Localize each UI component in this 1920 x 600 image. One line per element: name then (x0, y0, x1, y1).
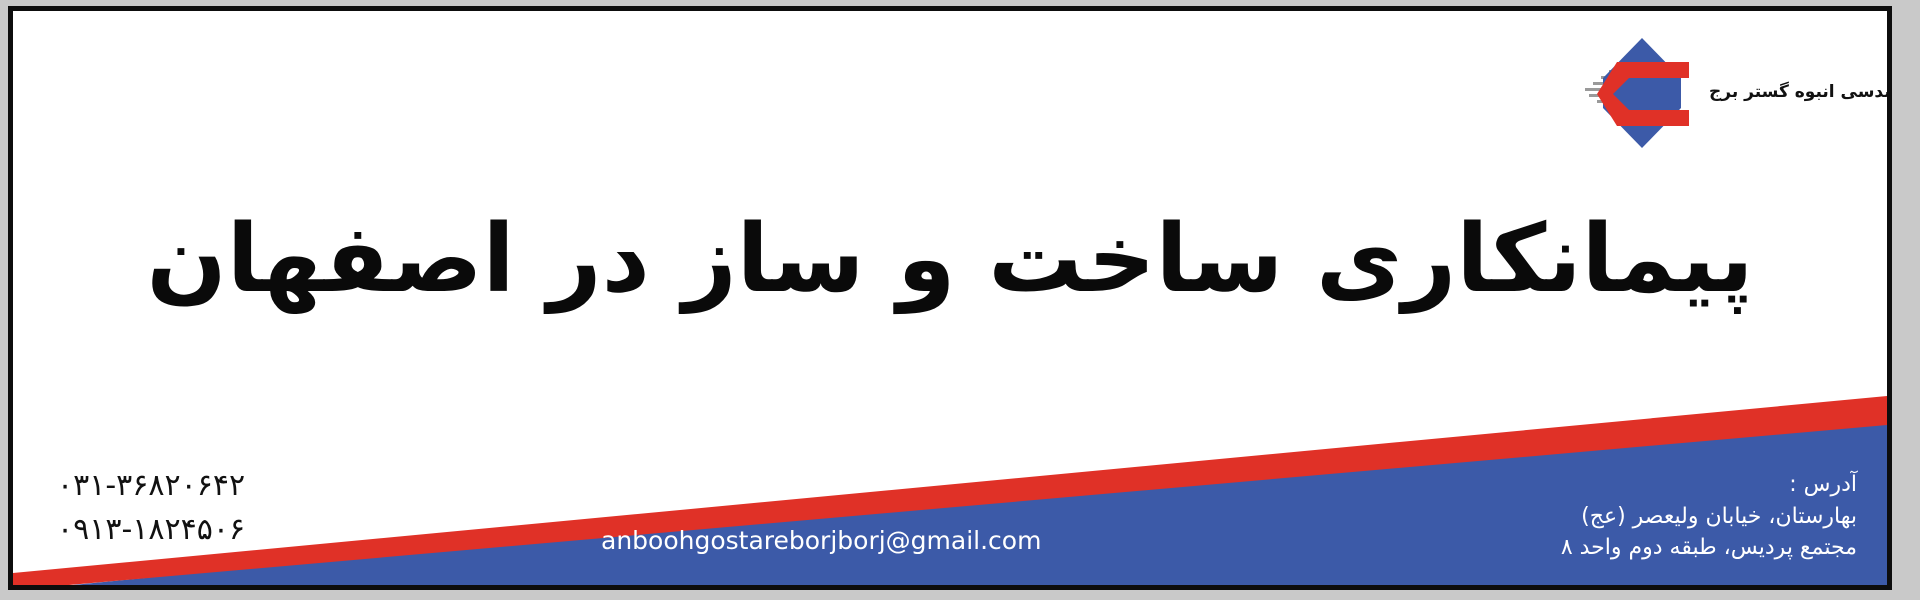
red-chevron-icon (1597, 62, 1689, 126)
banner-panel: شرکت مهندسی انبوه گستر برج پیمانکاری ساخ… (8, 6, 1892, 590)
phone-number-list: ۰۳۱-۳۶۸۲۰۶۴۲ ۰۹۱۳-۱۸۲۴۵۰۶ (57, 464, 245, 551)
company-name-text: شرکت مهندسی انبوه گستر برج (1709, 82, 1892, 102)
address-block: آدرس : بهارستان، خیابان ولیعصر (عج) مجتم… (1561, 469, 1857, 563)
phone-number-landline: ۰۳۱-۳۶۸۲۰۶۴۲ (57, 464, 245, 508)
logo-block: شرکت مهندسی انبوه گستر برج (1581, 33, 1881, 153)
address-line-1: بهارستان، خیابان ولیعصر (عج) (1561, 501, 1857, 532)
phone-number-mobile: ۰۹۱۳-۱۸۲۴۵۰۶ (57, 508, 245, 552)
email-address: anboohgostareborjborj@gmail.com (601, 526, 1041, 555)
page-title: پیمانکاری ساخت و ساز در اصفهان (13, 211, 1887, 310)
address-line-2: مجتمع پردیس، طبقه دوم واحد ۸ (1561, 532, 1857, 563)
address-label: آدرس : (1561, 469, 1857, 500)
company-logo-icon (1581, 34, 1703, 152)
